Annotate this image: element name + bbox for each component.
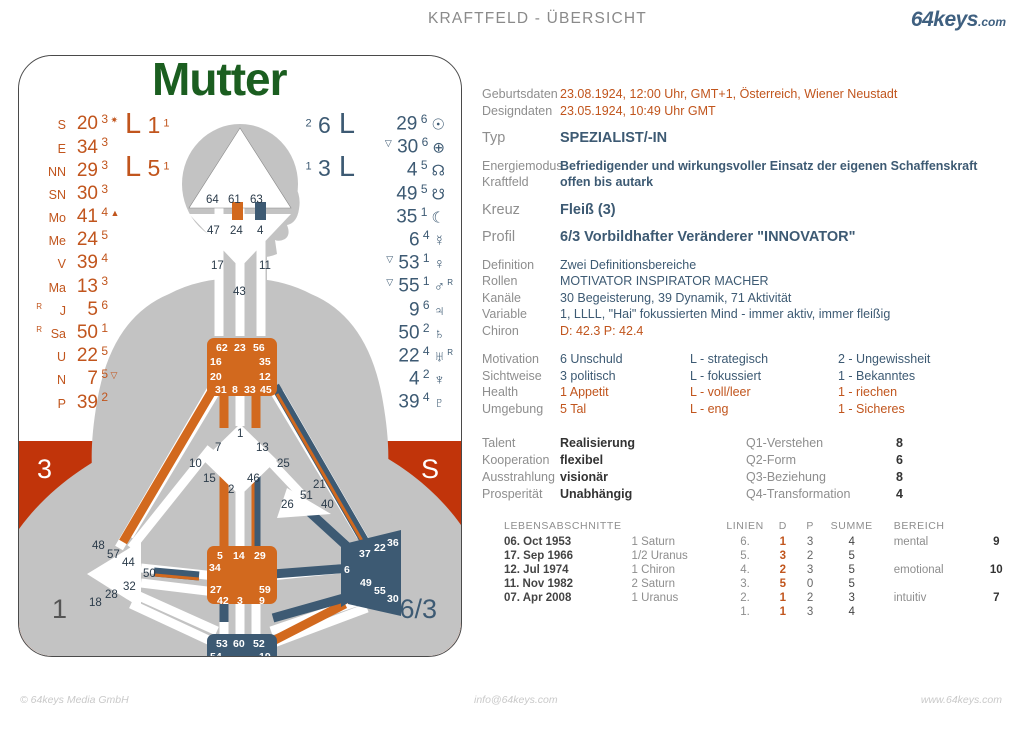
matrix-col2: L - strategisch	[690, 351, 838, 368]
gate-25: 25	[277, 458, 290, 470]
gate-2: 2	[228, 484, 234, 496]
person-line: 1	[420, 251, 430, 265]
person-planet-row: 35 1 ☾	[349, 201, 453, 224]
life-p: 0	[797, 577, 824, 591]
gate-63: 63	[250, 194, 263, 206]
kraftfeld-value: offen bis autark	[560, 174, 653, 191]
talent-row: KooperationflexibelQ2-Form6	[482, 452, 1012, 469]
gate-48: 48	[92, 540, 105, 552]
person-marker: ▽	[385, 138, 392, 148]
quadrant-label: Q4-Transformation	[746, 486, 896, 503]
brand-logo: 64keys.com	[911, 8, 1006, 32]
gate-11: 11	[259, 260, 271, 272]
gate-8: 8	[232, 384, 238, 396]
definition-value: Zwei Definitionsbereiche	[560, 257, 696, 274]
matrix-row: Motivation6 UnschuldL - strategisch2 - U…	[482, 351, 1012, 368]
life-sum: 5	[824, 549, 880, 563]
talent-label: Prosperität	[482, 486, 560, 503]
talent-label: Talent	[482, 435, 560, 452]
matrix-col1: 1 Appetit	[560, 384, 690, 401]
gate-44: 44	[122, 557, 135, 569]
design-arrow-number: 1	[141, 112, 160, 138]
gate-50: 50	[143, 568, 156, 580]
table-row: 17. Sep 19661/2 Uranus5.325	[482, 549, 1012, 563]
design-arrow-small: 1	[160, 118, 169, 130]
design-line: 3	[98, 182, 108, 196]
person-variable-arrows: 2 6 L1 3 L	[299, 110, 355, 196]
gate-49: 49	[360, 577, 372, 589]
life-th-area-num	[981, 520, 1012, 535]
profile-label: Profil	[482, 229, 560, 246]
gate-28: 28	[105, 589, 118, 601]
gate-19: 19	[259, 651, 271, 656]
design-marker: ▽	[108, 370, 117, 380]
design-planet-row: Ma 13 3	[33, 270, 119, 293]
design-line: 3	[98, 274, 108, 288]
person-planet-row: 22 4 ♅R	[349, 340, 453, 363]
life-date: 07. Apr 2008	[482, 591, 632, 605]
design-planet-row: RSa 50 1	[33, 317, 119, 340]
matrix-col2: L - voll/leer	[690, 384, 838, 401]
life-d: 5	[769, 577, 796, 591]
gate-33: 33	[244, 384, 256, 396]
design-planet-row: SN 30 3	[33, 178, 119, 201]
person-line: 6	[417, 112, 427, 126]
gate-54: 54	[210, 651, 222, 656]
life-p: 2	[797, 591, 824, 605]
gate-16: 16	[210, 356, 222, 368]
talent-label: Kooperation	[482, 452, 560, 469]
person-planet-row: ▽ 55 1 ♂R	[349, 270, 453, 293]
quadrant-label: Q2-Form	[746, 452, 896, 469]
gate-32: 32	[123, 581, 136, 593]
matrix-col2: L - fokussiert	[690, 368, 838, 385]
life-line: 4.	[721, 563, 769, 577]
matrix-col3: 1 - Bekanntes	[838, 368, 998, 385]
gate-60: 60	[233, 638, 245, 650]
kraftfeld-label: Kraftfeld	[482, 174, 560, 191]
design-line: 4	[98, 251, 108, 265]
energy-mode-value: Befriedigender und wirkungsvoller Einsat…	[560, 158, 977, 175]
life-p: 3	[797, 605, 824, 619]
cross-group: Kreuz Fleiß (3)	[482, 202, 1012, 219]
life-sum: 4	[824, 535, 880, 549]
life-planet	[632, 605, 721, 619]
life-date: 12. Jul 1974	[482, 563, 632, 577]
design-line: 5	[98, 228, 108, 242]
talent-value: flexibel	[560, 452, 746, 469]
life-date: 11. Nov 1982	[482, 577, 632, 591]
bodygraph-card: 64 61 63 47 24 4 17 11 43 62 23 56 16 35…	[18, 55, 462, 657]
person-planet-row: ▽ 53 1 ♀	[349, 247, 453, 270]
design-line: 5	[98, 367, 108, 381]
design-planet-row: E 34 3	[33, 131, 119, 154]
life-area-number: 7	[981, 591, 1012, 605]
corner-design-profile: 3	[37, 454, 52, 485]
definition-label: Definition	[482, 257, 560, 274]
table-row: 07. Apr 20081 Uranus2.123intuitiv7	[482, 591, 1012, 605]
gate-4-ajna: 4	[257, 225, 263, 237]
talent-value: Realisierung	[560, 435, 746, 452]
design-planet-row: S 20 3 ✷	[33, 108, 119, 131]
person-planet-symbol: ♇	[430, 395, 445, 412]
design-gate: 39	[66, 391, 98, 414]
variable-label: Variable	[482, 306, 560, 323]
design-data-value: 23.05.1924, 10:49 Uhr GMT	[560, 103, 716, 120]
gate-9: 9	[259, 595, 265, 607]
quadrant-number: 8	[896, 469, 903, 486]
gate-47: 47	[207, 225, 220, 237]
person-planet-column: 29 6 ☉▽ 30 6 ⊕ 4 5 ☊ 49 5 ☋ 35 1 ☾ 6 4 ☿…	[349, 108, 453, 409]
profile-row: Profil 6/3 Vorbildhafter Veränderer "INN…	[482, 229, 1012, 246]
chiron-value: D: 42.3 P: 42.4	[560, 323, 643, 340]
person-planet-row: 49 5 ☋	[349, 178, 453, 201]
gate-23: 23	[234, 342, 246, 354]
person-line: 2	[420, 321, 430, 335]
matrix-label: Motivation	[482, 351, 560, 368]
design-line: 6	[98, 298, 108, 312]
life-d: 1	[769, 535, 796, 549]
design-line: 1	[98, 321, 108, 335]
life-area	[880, 605, 981, 619]
life-line: 5.	[721, 549, 769, 563]
design-planet-row: Mo 41 4 ▲	[33, 201, 119, 224]
quadrant-label: Q1-Verstehen	[746, 435, 896, 452]
life-planet: 2 Saturn	[632, 577, 721, 591]
footer-email[interactable]: info@64keys.com	[474, 694, 558, 706]
variable-matrix: Motivation6 UnschuldL - strategisch2 - U…	[482, 351, 1012, 417]
talent-value: visionär	[560, 469, 746, 486]
design-retrograde: R	[33, 295, 42, 318]
person-line: 1	[417, 205, 427, 219]
life-p: 2	[797, 549, 824, 563]
life-area	[880, 549, 981, 563]
life-area: mental	[880, 535, 981, 549]
life-th-area: BEREICH	[880, 520, 981, 535]
person-line: 1	[420, 274, 430, 288]
energy-mode-row: Energiemodus Befriedigender und wirkungs…	[482, 158, 1012, 175]
life-date: 17. Sep 1966	[482, 549, 632, 563]
talent-row: AusstrahlungvisionärQ3-Beziehung8	[482, 469, 1012, 486]
person-line: 5	[417, 182, 427, 196]
gate-46: 46	[247, 473, 260, 485]
gate-6: 6	[344, 564, 350, 576]
gate-51: 51	[300, 490, 313, 502]
life-th-p: P	[797, 520, 824, 535]
life-d: 3	[769, 549, 796, 563]
gate-29: 29	[254, 550, 266, 562]
life-area: emotional	[880, 563, 981, 577]
type-label: Typ	[482, 130, 560, 147]
footer-website[interactable]: www.64keys.com	[921, 694, 1002, 706]
talent-quadrant-block: TalentRealisierungQ1-Verstehen8Kooperati…	[482, 435, 1012, 503]
gate-15: 15	[203, 473, 216, 485]
design-arrow-letter: L	[125, 108, 141, 140]
table-row: 1.134	[482, 605, 1012, 619]
life-date	[482, 605, 632, 619]
design-retrograde: R	[33, 318, 42, 341]
person-arrow-item: 1 3 L	[299, 153, 355, 182]
design-marker: ▲	[108, 208, 119, 218]
corner-profile: 6/3	[399, 594, 437, 625]
gate-13: 13	[256, 442, 269, 454]
profile-group: Profil 6/3 Vorbildhafter Veränderer "INN…	[482, 229, 1012, 246]
cross-row: Kreuz Fleiß (3)	[482, 202, 1012, 219]
person-line: 2	[420, 367, 430, 381]
details-group: Definition Zwei Definitionsbereiche Roll…	[482, 257, 1012, 340]
gate-56: 56	[253, 342, 265, 354]
chiron-label: Chiron	[482, 323, 560, 340]
matrix-row: Health1 AppetitL - voll/leer1 - riechen	[482, 384, 1012, 401]
matrix-col3: 1 - riechen	[838, 384, 998, 401]
person-line: 4	[420, 228, 430, 242]
life-area	[880, 577, 981, 591]
design-line: 4	[98, 205, 108, 219]
gate-52: 52	[253, 638, 265, 650]
life-line: 2.	[721, 591, 769, 605]
gate-37: 37	[359, 548, 371, 560]
person-planet-row: 4 2 ♆	[349, 363, 453, 386]
type-group: Typ SPEZIALIST/-IN	[482, 130, 1012, 147]
matrix-col1: 6 Unschuld	[560, 351, 690, 368]
gate-31: 31	[215, 384, 227, 396]
life-th-blank	[632, 520, 721, 535]
matrix-row: Umgebung5 TalL - eng1 - Sicheres	[482, 401, 1012, 418]
gate-35: 35	[259, 356, 271, 368]
life-line: 3.	[721, 577, 769, 591]
design-planet-row: Me 24 5	[33, 224, 119, 247]
matrix-label: Health	[482, 384, 560, 401]
quadrant-number: 4	[896, 486, 903, 503]
cross-label: Kreuz	[482, 202, 560, 219]
design-marker: ✷	[108, 115, 118, 125]
life-sum: 5	[824, 563, 880, 577]
design-planet-row: RJ 5 6	[33, 294, 119, 317]
life-d: 1	[769, 605, 796, 619]
life-area-number: 9	[981, 535, 1012, 549]
person-planet-row: 50 2 ♄	[349, 317, 453, 340]
gate-53: 53	[216, 638, 228, 650]
life-th-phases: LEBENSABSCHNITTE	[482, 520, 632, 535]
talent-value: Unabhängig	[560, 486, 746, 503]
life-d: 1	[769, 591, 796, 605]
gate-26: 26	[281, 499, 294, 511]
gate-17: 17	[211, 260, 224, 272]
gate-64: 64	[206, 194, 219, 206]
gate-14: 14	[233, 550, 245, 562]
life-area-number	[981, 605, 1012, 619]
life-planet: 1/2 Uranus	[632, 549, 721, 563]
matrix-row: Sichtweise3 politischL - fokussiert1 - B…	[482, 368, 1012, 385]
design-arrow-item: L 1 1	[125, 110, 170, 139]
person-line: 6	[418, 135, 428, 149]
brand-name: 64keys	[911, 8, 978, 31]
design-planet-row: NN 29 3	[33, 154, 119, 177]
gate-3: 3	[237, 595, 243, 607]
design-arrow-small: 1	[160, 161, 169, 173]
profile-value: 6/3 Vorbildhafter Veränderer "INNOVATOR"	[560, 229, 856, 246]
roles-row: Rollen MOTIVATOR INSPIRATOR MACHER	[482, 273, 1012, 290]
gate-34: 34	[209, 562, 221, 574]
life-area: intuitiv	[880, 591, 981, 605]
life-date: 06. Oct 1953	[482, 535, 632, 549]
gate-1: 1	[237, 428, 243, 440]
variable-value: 1, LLLL, "Hai" fokussierten Mind - immer…	[560, 306, 890, 323]
channels-value: 30 Begeisterung, 39 Dynamik, 71 Aktivitä…	[560, 290, 791, 307]
design-variable-arrows: L 1 1L 5 1	[125, 110, 170, 196]
matrix-col2: L - eng	[690, 401, 838, 418]
person-line: 5	[417, 158, 427, 172]
energy-group: Energiemodus Befriedigender und wirkungs…	[482, 158, 1012, 191]
type-value: SPEZIALIST/-IN	[560, 130, 667, 147]
channels-row: Kanäle 30 Begeisterung, 39 Dynamik, 71 A…	[482, 290, 1012, 307]
gate-10: 10	[189, 458, 202, 470]
matrix-col1: 3 politisch	[560, 368, 690, 385]
quadrant-number: 6	[896, 452, 903, 469]
life-sum: 3	[824, 591, 880, 605]
definition-row: Definition Zwei Definitionsbereiche	[482, 257, 1012, 274]
info-panel: Geburtsdaten 23.08.1924, 12:00 Uhr, GMT+…	[482, 86, 1012, 619]
footer-copyright: © 64keys Media GmbH	[20, 694, 129, 706]
gate-5: 5	[217, 550, 223, 562]
design-data-label: Designdaten	[482, 103, 560, 120]
corner-definition-count: 1	[52, 594, 67, 625]
person-retrograde: R	[445, 341, 453, 364]
matrix-label: Umgebung	[482, 401, 560, 418]
gate-45: 45	[260, 384, 272, 396]
gate-40: 40	[321, 499, 334, 511]
gate-57: 57	[107, 549, 120, 561]
person-arrow-number: 6	[312, 112, 331, 138]
life-planet: 1 Saturn	[632, 535, 721, 549]
life-table-header-row: LEBENSABSCHNITTE LINIEN D P SUMME BEREIC…	[482, 520, 1012, 535]
gate-61: 61	[228, 194, 241, 206]
gate-55: 55	[374, 585, 386, 597]
life-line: 1.	[721, 605, 769, 619]
person-planet-row: 39 4 ♇	[349, 386, 453, 409]
gate-21: 21	[313, 479, 326, 491]
life-area-number	[981, 549, 1012, 563]
gate-24: 24	[230, 225, 243, 237]
person-planet-row: ▽ 30 6 ⊕	[349, 131, 453, 154]
person-line: 6	[420, 298, 430, 312]
birth-data-group: Geburtsdaten 23.08.1924, 12:00 Uhr, GMT+…	[482, 86, 1012, 119]
gate-12: 12	[259, 371, 271, 383]
life-area-number	[981, 577, 1012, 591]
table-row: 11. Nov 19822 Saturn3.505	[482, 577, 1012, 591]
quadrant-number: 8	[896, 435, 903, 452]
person-arrow-number: 3	[312, 155, 331, 181]
gate-62: 62	[216, 342, 228, 354]
roles-value: MOTIVATOR INSPIRATOR MACHER	[560, 273, 769, 290]
life-sum: 4	[824, 605, 880, 619]
life-th-d: D	[769, 520, 796, 535]
design-planet-row: V 39 4	[33, 247, 119, 270]
matrix-col3: 2 - Ungewissheit	[838, 351, 998, 368]
life-d: 2	[769, 563, 796, 577]
matrix-label: Sichtweise	[482, 368, 560, 385]
design-data-row: Designdaten 23.05.1924, 10:49 Uhr GMT	[482, 103, 1012, 120]
life-th-sum: SUMME	[824, 520, 880, 535]
talent-row: ProsperitätUnabhängigQ4-Transformation4	[482, 486, 1012, 503]
gate-22: 22	[374, 542, 386, 554]
kraftfeld-row: Kraftfeld offen bis autark	[482, 174, 1012, 191]
gate-43: 43	[233, 286, 246, 298]
page-header: KRAFTFELD - ÜBERSICHT 64keys.com	[0, 0, 1024, 36]
matrix-col3: 1 - Sicheres	[838, 401, 998, 418]
variable-row: Variable 1, LLLL, "Hai" fokussierten Min…	[482, 306, 1012, 323]
channels-label: Kanäle	[482, 290, 560, 307]
design-planet-row: U 22 5	[33, 340, 119, 363]
gate-20: 20	[210, 371, 222, 383]
life-planet: 1 Chiron	[632, 563, 721, 577]
gate-7: 7	[215, 442, 221, 454]
person-line: 4	[420, 390, 430, 404]
design-line: 2	[98, 390, 108, 404]
design-planet-row: P 39 2	[33, 386, 119, 409]
design-planet-row: N 7 5 ▽	[33, 363, 119, 386]
design-line: 3	[98, 112, 108, 126]
talent-row: TalentRealisierungQ1-Verstehen8	[482, 435, 1012, 452]
life-phases-section: LEBENSABSCHNITTE LINIEN D P SUMME BEREIC…	[482, 520, 1012, 619]
life-sum: 5	[824, 577, 880, 591]
person-line: 4	[420, 344, 430, 358]
page-footer: © 64keys Media GmbH info@64keys.com www.…	[0, 694, 1024, 714]
matrix-col1: 5 Tal	[560, 401, 690, 418]
page-title: KRAFTFELD - ÜBERSICHT	[428, 10, 647, 28]
type-row: Typ SPEZIALIST/-IN	[482, 130, 1012, 147]
gate-42: 42	[217, 595, 229, 607]
design-arrow-item: L 5 1	[125, 153, 170, 182]
person-retrograde: R	[445, 271, 453, 294]
design-planet-label: P	[42, 393, 66, 416]
design-arrow-number: 5	[141, 155, 160, 181]
design-line: 5	[98, 344, 108, 358]
talent-label: Ausstrahlung	[482, 469, 560, 486]
life-area-number: 10	[981, 563, 1012, 577]
table-row: 06. Oct 19531 Saturn6.134mental9	[482, 535, 1012, 549]
chart-person-name: Mutter	[152, 52, 287, 106]
life-p: 3	[797, 535, 824, 549]
person-arrow-item: 2 6 L	[299, 110, 355, 139]
design-line: 3	[98, 135, 108, 149]
birth-data-row: Geburtsdaten 23.08.1924, 12:00 Uhr, GMT+…	[482, 86, 1012, 103]
energy-mode-label: Energiemodus	[482, 158, 560, 175]
life-line: 6.	[721, 535, 769, 549]
person-planet-row: 29 6 ☉	[349, 108, 453, 131]
life-th-lines: LINIEN	[721, 520, 769, 535]
cross-value: Fleiß (3)	[560, 202, 616, 219]
life-p: 3	[797, 563, 824, 577]
gate-18: 18	[89, 597, 102, 609]
corner-type-letter: S	[421, 454, 439, 485]
life-phases-table: LEBENSABSCHNITTE LINIEN D P SUMME BEREIC…	[482, 520, 1012, 619]
person-planet-row: 6 4 ☿	[349, 224, 453, 247]
life-planet: 1 Uranus	[632, 591, 721, 605]
birth-data-value: 23.08.1924, 12:00 Uhr, GMT+1, Österreich…	[560, 86, 897, 103]
roles-label: Rollen	[482, 273, 560, 290]
design-arrow-letter: L	[125, 151, 141, 183]
gate-30: 30	[387, 593, 399, 605]
gate-36: 36	[387, 537, 399, 549]
chiron-row: Chiron D: 42.3 P: 42.4	[482, 323, 1012, 340]
person-gate: 39	[398, 392, 419, 413]
table-row: 12. Jul 19741 Chiron4.235emotional10	[482, 563, 1012, 577]
design-line: 3	[98, 158, 108, 172]
design-planet-column: S 20 3 ✷E 34 3 NN 29 3 SN 30 3 Mo 41 4 ▲…	[33, 108, 119, 409]
quadrant-label: Q3-Beziehung	[746, 469, 896, 486]
birth-data-label: Geburtsdaten	[482, 86, 560, 103]
